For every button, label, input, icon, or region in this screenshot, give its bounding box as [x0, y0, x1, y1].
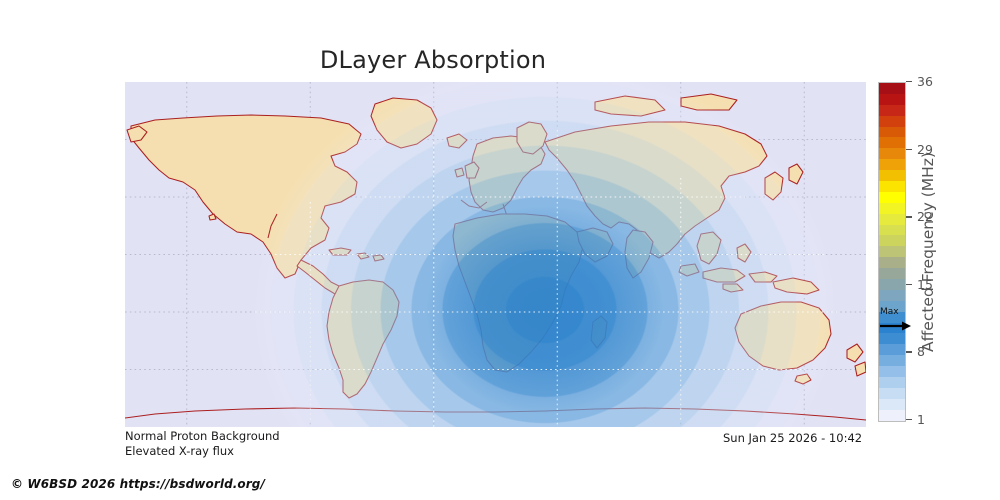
colorbar-segment — [879, 323, 905, 334]
colorbar-segment — [879, 83, 905, 94]
colorbar-tick-mark — [906, 284, 912, 285]
colorbar-segment — [879, 203, 905, 214]
colorbar-tick-mark — [906, 149, 912, 150]
colorbar-segment — [879, 159, 905, 170]
colorbar-segment — [879, 116, 905, 127]
colorbar-segment — [879, 333, 905, 344]
colorbar-segment — [879, 410, 905, 421]
map-canvas — [125, 82, 866, 427]
colorbar-segment — [879, 246, 905, 257]
dlayer-absorption-screen: DLayer Absorption — [0, 0, 1000, 500]
colorbar-segment — [879, 312, 905, 323]
page-title: DLayer Absorption — [0, 46, 866, 74]
xray-status: Elevated X-ray flux — [125, 444, 280, 459]
copyright-footer: © W6BSD 2026 https://bsdworld.org/ — [11, 477, 265, 491]
colorbar-segment — [879, 279, 905, 290]
colorbar-segment — [879, 214, 905, 225]
colorbar-tick-mark — [906, 419, 912, 420]
world-map[interactable] — [125, 82, 866, 427]
colorbar-segment — [879, 225, 905, 236]
colorbar-segment — [879, 366, 905, 377]
proton-status: Normal Proton Background — [125, 429, 280, 444]
colorbar-segment — [879, 290, 905, 301]
colorbar-segment — [879, 192, 905, 203]
colorbar-tick-mark — [906, 351, 912, 352]
colorbar-segment — [879, 355, 905, 366]
colorbar-segment — [879, 399, 905, 410]
colorbar-segment — [879, 257, 905, 268]
colorbar-segment — [879, 148, 905, 159]
colorbar-segment — [879, 127, 905, 138]
colorbar-tick-mark — [906, 81, 912, 82]
colorbar-tick-mark — [906, 216, 912, 217]
colorbar-segment — [879, 344, 905, 355]
colorbar-segment — [879, 388, 905, 399]
colorbar-segment — [879, 235, 905, 246]
colorbar-segment — [879, 268, 905, 279]
colorbar-segment — [879, 301, 905, 312]
colorbar[interactable] — [878, 82, 906, 422]
timestamp: Sun Jan 25 2026 - 10:42 — [723, 431, 862, 446]
colorbar-segment — [879, 170, 905, 181]
colorbar-segment — [879, 137, 905, 148]
colorbar-segment — [879, 377, 905, 388]
status-captions: Normal Proton Background Elevated X-ray … — [125, 429, 280, 459]
colorbar-segment — [879, 181, 905, 192]
colorbar-segment — [879, 94, 905, 105]
colorbar-label: Affected Frequency (MHz) — [915, 82, 941, 422]
colorbar-segment — [879, 105, 905, 116]
